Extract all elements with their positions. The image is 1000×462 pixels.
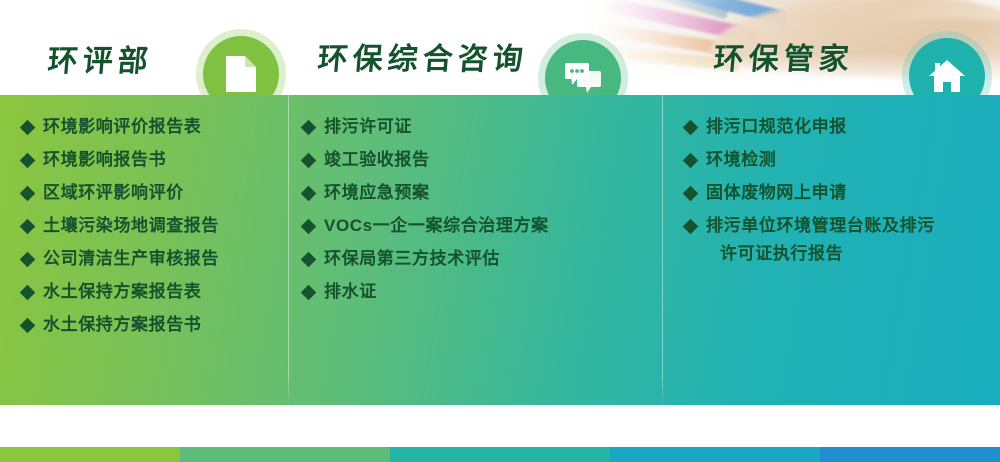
list-item[interactable]: 排污单位环境管理台账及排污 许可证执行报告 bbox=[663, 216, 1000, 264]
list-item[interactable]: 区域环评影响评价 bbox=[0, 183, 288, 203]
footer-segment-3 bbox=[390, 447, 610, 462]
header-band: 环评部 环保综合咨询 环保管家 bbox=[0, 0, 1000, 95]
diamond-bullet-icon bbox=[20, 252, 36, 268]
diamond-bullet-icon bbox=[683, 120, 699, 136]
list-item-label: 水土保持方案报告表 bbox=[43, 282, 201, 302]
diamond-bullet-icon bbox=[20, 219, 36, 235]
diamond-bullet-icon bbox=[20, 120, 36, 136]
content-band: 环境影响评价报告表 环境影响报告书 区域环评影响评价 土壤污染场地调查报告 公司… bbox=[0, 95, 1000, 405]
document-icon bbox=[226, 56, 256, 92]
list-item-label-wrapped: 排污单位环境管理台账及排污 许可证执行报告 bbox=[706, 216, 935, 264]
list-item[interactable]: 土壤污染场地调查报告 bbox=[0, 216, 288, 236]
list-item-label: 环境影响报告书 bbox=[43, 150, 166, 170]
list-item-label-line2: 许可证执行报告 bbox=[706, 244, 935, 264]
list-item[interactable]: VOCs一企一案综合治理方案 bbox=[289, 216, 662, 236]
diamond-bullet-icon bbox=[301, 252, 317, 268]
diamond-bullet-icon bbox=[301, 219, 317, 235]
list-item-label: 区域环评影响评价 bbox=[43, 183, 184, 203]
house-icon bbox=[928, 59, 966, 93]
diamond-bullet-icon bbox=[683, 153, 699, 169]
diamond-bullet-icon bbox=[20, 186, 36, 202]
list-item[interactable]: 环境应急预案 bbox=[289, 183, 662, 203]
diamond-bullet-icon bbox=[20, 318, 36, 334]
list-item-label: 环境应急预案 bbox=[324, 183, 430, 203]
document-icon-badge bbox=[203, 36, 279, 95]
list-item-label: 环境影响评价报告表 bbox=[43, 117, 201, 137]
list-item-label: 水土保持方案报告书 bbox=[43, 315, 201, 335]
diamond-bullet-icon bbox=[301, 120, 317, 136]
column-title-zonghezixun: 环保综合咨询 bbox=[316, 34, 530, 78]
list-item-label: 排水证 bbox=[324, 282, 377, 302]
footer-segment-1 bbox=[0, 447, 180, 462]
diamond-bullet-icon bbox=[301, 186, 317, 202]
list-item[interactable]: 竣工验收报告 bbox=[289, 150, 662, 170]
white-separator bbox=[0, 405, 1000, 447]
chat-bubbles-icon-badge bbox=[545, 40, 621, 95]
list-item-label: 排污口规范化申报 bbox=[706, 117, 847, 137]
column-title-huanpingbu: 环评部 bbox=[46, 36, 155, 80]
diamond-bullet-icon bbox=[301, 153, 317, 169]
list-item-label: 环境检测 bbox=[706, 150, 776, 170]
footer-segment-5 bbox=[820, 447, 1000, 462]
list-item[interactable]: 环境影响评价报告表 bbox=[0, 117, 288, 137]
diamond-bullet-icon bbox=[683, 219, 699, 235]
service-list: 排污许可证 竣工验收报告 环境应急预案 VOCs一企一案综合治理方案 环保局第三… bbox=[289, 117, 662, 315]
list-item-label: VOCs一企一案综合治理方案 bbox=[324, 216, 549, 236]
diamond-bullet-icon bbox=[20, 153, 36, 169]
column-title-guanjia: 环保管家 bbox=[712, 34, 856, 78]
list-item[interactable]: 排水证 bbox=[289, 282, 662, 302]
list-item-label: 土壤污染场地调查报告 bbox=[43, 216, 219, 236]
list-item[interactable]: 水土保持方案报告书 bbox=[0, 315, 288, 335]
list-item[interactable]: 排污许可证 bbox=[289, 117, 662, 137]
infographic-banner: 环评部 环保综合咨询 环保管家 bbox=[0, 0, 1000, 462]
chat-bubbles-icon bbox=[565, 63, 601, 93]
diamond-bullet-icon bbox=[683, 186, 699, 202]
footer-segment-2 bbox=[180, 447, 390, 462]
list-item-label: 环保局第三方技术评估 bbox=[324, 249, 500, 269]
list-item[interactable]: 环境影响报告书 bbox=[0, 150, 288, 170]
list-item[interactable]: 水土保持方案报告表 bbox=[0, 282, 288, 302]
list-item[interactable]: 排污口规范化申报 bbox=[663, 117, 1000, 137]
service-list: 排污口规范化申报 环境检测 固体废物网上申请 排污单位环境管理台账及排污 许可证… bbox=[663, 117, 1000, 277]
list-item[interactable]: 环境检测 bbox=[663, 150, 1000, 170]
service-list: 环境影响评价报告表 环境影响报告书 区域环评影响评价 土壤污染场地调查报告 公司… bbox=[0, 117, 288, 348]
diamond-bullet-icon bbox=[20, 285, 36, 301]
list-item[interactable]: 公司清洁生产审核报告 bbox=[0, 249, 288, 269]
list-item[interactable]: 环保局第三方技术评估 bbox=[289, 249, 662, 269]
diamond-bullet-icon bbox=[301, 285, 317, 301]
list-item-label-line1: 排污单位环境管理台账及排污 bbox=[706, 216, 935, 235]
list-item-label: 公司清洁生产审核报告 bbox=[43, 249, 219, 269]
list-item[interactable]: 固体废物网上申请 bbox=[663, 183, 1000, 203]
list-item-label: 排污许可证 bbox=[324, 117, 412, 137]
house-icon-badge bbox=[909, 38, 985, 95]
list-item-label: 竣工验收报告 bbox=[324, 150, 430, 170]
footer-segment-4 bbox=[610, 447, 820, 462]
footer-color-bar bbox=[0, 447, 1000, 462]
list-item-label: 固体废物网上申请 bbox=[706, 183, 847, 203]
